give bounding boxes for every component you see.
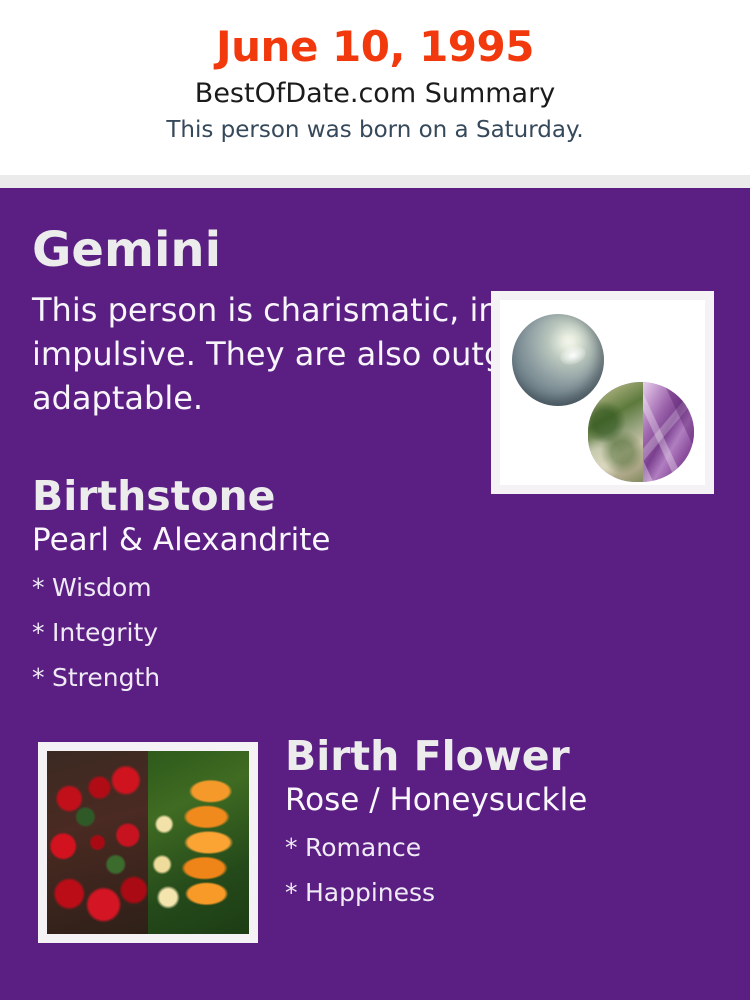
- list-item: *Integrity: [32, 610, 472, 655]
- alexandrite-rough-half: [588, 382, 643, 482]
- birth-flower-photo: [38, 742, 258, 943]
- birth-day-note: This person was born on a Saturday.: [0, 115, 750, 145]
- bullet-marker-icon: *: [32, 610, 52, 655]
- list-item: *Happiness: [285, 870, 735, 915]
- birth-flower-names: Rose / Honeysuckle: [285, 781, 735, 819]
- birth-flower-trait-label: Romance: [305, 833, 421, 862]
- birthstone-section: Birthstone Pearl & Alexandrite *Wisdom *…: [0, 472, 750, 687]
- bullet-marker-icon: *: [285, 825, 305, 870]
- site-name: BestOfDate.com Summary: [0, 76, 750, 112]
- honeysuckle-image: [148, 751, 249, 934]
- birthstone-photo: [491, 291, 714, 494]
- list-item: *Strength: [32, 655, 472, 700]
- zodiac-sign-name: Gemini: [32, 222, 722, 278]
- birthstone-text-block: Birthstone Pearl & Alexandrite *Wisdom *…: [32, 472, 472, 700]
- birth-flower-photo-inner: [47, 751, 249, 934]
- birth-flower-trait-label: Happiness: [305, 878, 435, 907]
- birthstone-photo-inner: [500, 300, 705, 485]
- page-header: June 10, 1995 BestOfDate.com Summary Thi…: [0, 0, 750, 175]
- alexandrite-faceted-half: [643, 382, 694, 482]
- list-item: *Wisdom: [32, 565, 472, 610]
- bullet-marker-icon: *: [285, 870, 305, 915]
- birthstone-trait-label: Wisdom: [52, 573, 152, 602]
- bullet-marker-icon: *: [32, 565, 52, 610]
- page-title-date: June 10, 1995: [0, 22, 750, 72]
- birth-flower-trait-list: *Romance *Happiness: [285, 825, 735, 915]
- birth-flower-title: Birth Flower: [285, 732, 735, 780]
- summary-page: June 10, 1995 BestOfDate.com Summary Thi…: [0, 0, 750, 1000]
- alexandrite-gem-icon: [588, 382, 694, 482]
- birthstone-names: Pearl & Alexandrite: [32, 521, 472, 559]
- birthstone-trait-label: Strength: [52, 663, 160, 692]
- birthstone-trait-label: Integrity: [52, 618, 158, 647]
- red-roses-image: [47, 751, 148, 934]
- header-divider: [0, 175, 750, 188]
- birthstone-trait-list: *Wisdom *Integrity *Strength: [32, 565, 472, 700]
- list-item: *Romance: [285, 825, 735, 870]
- birthstone-title: Birthstone: [32, 472, 472, 520]
- bullet-marker-icon: *: [32, 655, 52, 700]
- birth-flower-text-block: Birth Flower Rose / Honeysuckle *Romance…: [285, 732, 735, 915]
